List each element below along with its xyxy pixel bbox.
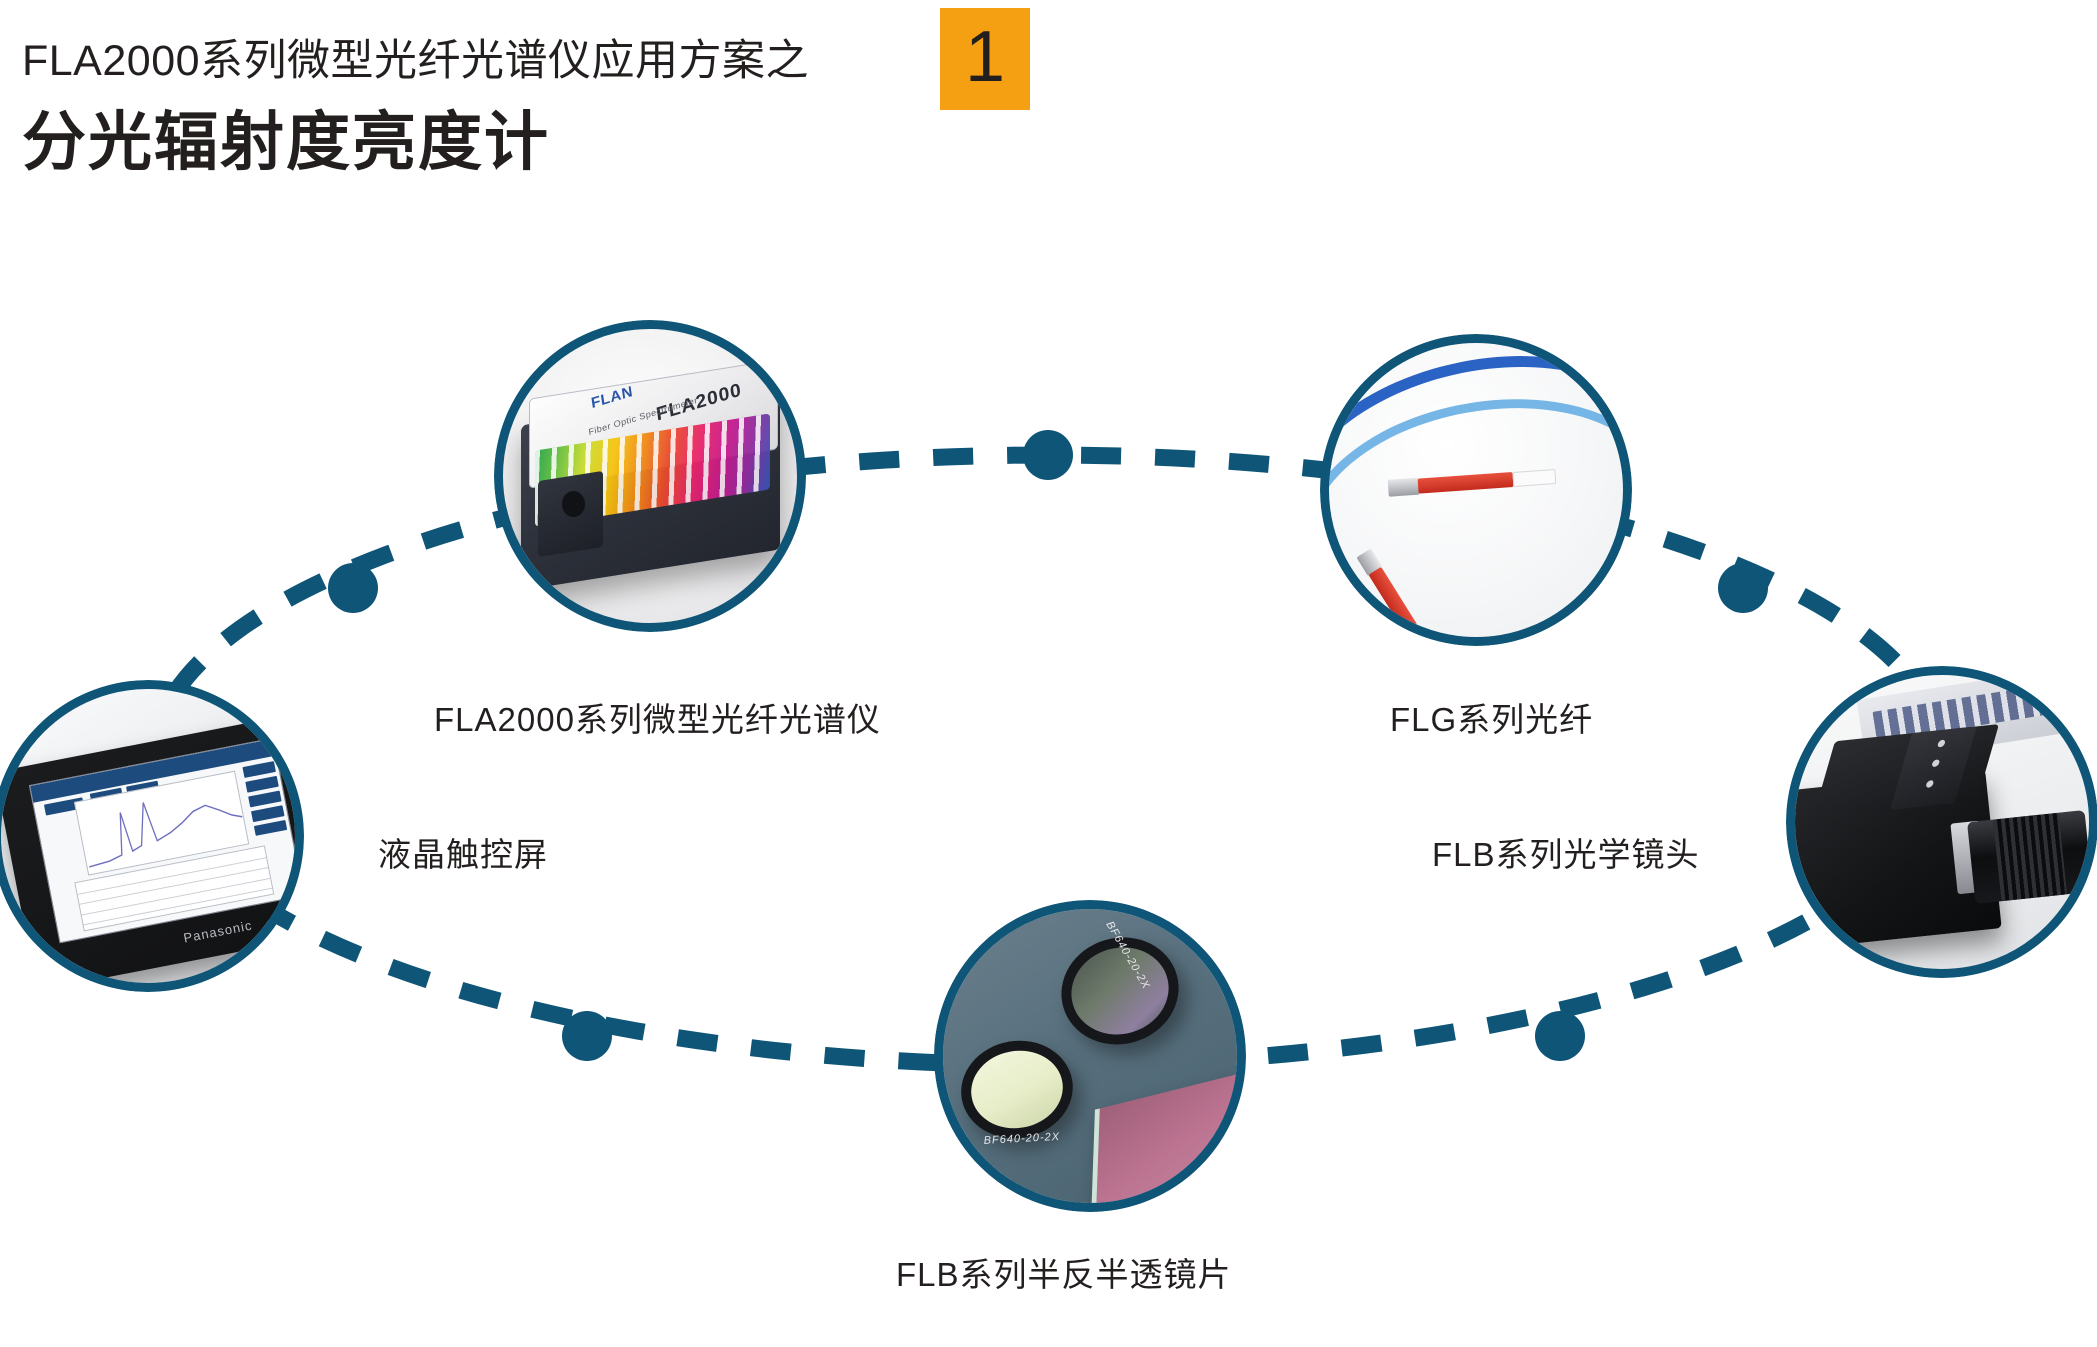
lens-photo xyxy=(1795,675,2089,969)
connector-dot-upper-left xyxy=(328,563,378,613)
node-spectrometer[interactable]: FLAN FLA2000 Fiber Optic Spectrometer xyxy=(494,320,806,632)
connector-dot-top xyxy=(1023,430,1073,480)
beamsplitter-photo: BF640-20-2X BF640-20-2X xyxy=(943,909,1237,1203)
poster-canvas: FLA2000系列微型光纤光谱仪应用方案之 1 分光辐射度亮度计 FLAN FL… xyxy=(0,0,2097,1347)
lens-barrel xyxy=(1967,810,2089,904)
node-beamsplitter[interactable]: BF640-20-2X BF640-20-2X xyxy=(934,900,1246,1212)
beamsplitter-plate xyxy=(1090,1067,1237,1203)
connector-dot-lower-left xyxy=(562,1011,612,1061)
filter-upright: BF640-20-2X xyxy=(1048,924,1190,1058)
spectrometer-photo: FLAN FLA2000 Fiber Optic Spectrometer xyxy=(503,329,797,623)
node-lcd[interactable]: Panasonic xyxy=(0,680,304,992)
node-lens[interactable] xyxy=(1786,666,2097,978)
caption-spectrometer: FLA2000系列微型光纤光谱仪 xyxy=(434,700,881,740)
caption-beamsplitter: FLB系列半反半透镜片 xyxy=(896,1255,1232,1295)
node-fiber[interactable] xyxy=(1320,334,1632,646)
caption-fiber: FLG系列光纤 xyxy=(1390,700,1593,740)
caption-lcd: 液晶触控屏 xyxy=(378,835,548,875)
fiber-photo xyxy=(1329,343,1623,637)
filter-upright-label: BF640-20-2X xyxy=(1103,920,1152,992)
connector-dot-upper-right xyxy=(1718,563,1768,613)
filter-flat-label: BF640-20-2X xyxy=(983,1131,1060,1147)
connector-dot-lower-right xyxy=(1535,1011,1585,1061)
lcd-photo: Panasonic xyxy=(1,689,295,983)
caption-lens: FLB系列光学镜头 xyxy=(1432,835,1700,875)
filter-flat: BF640-20-2X xyxy=(953,1032,1080,1147)
